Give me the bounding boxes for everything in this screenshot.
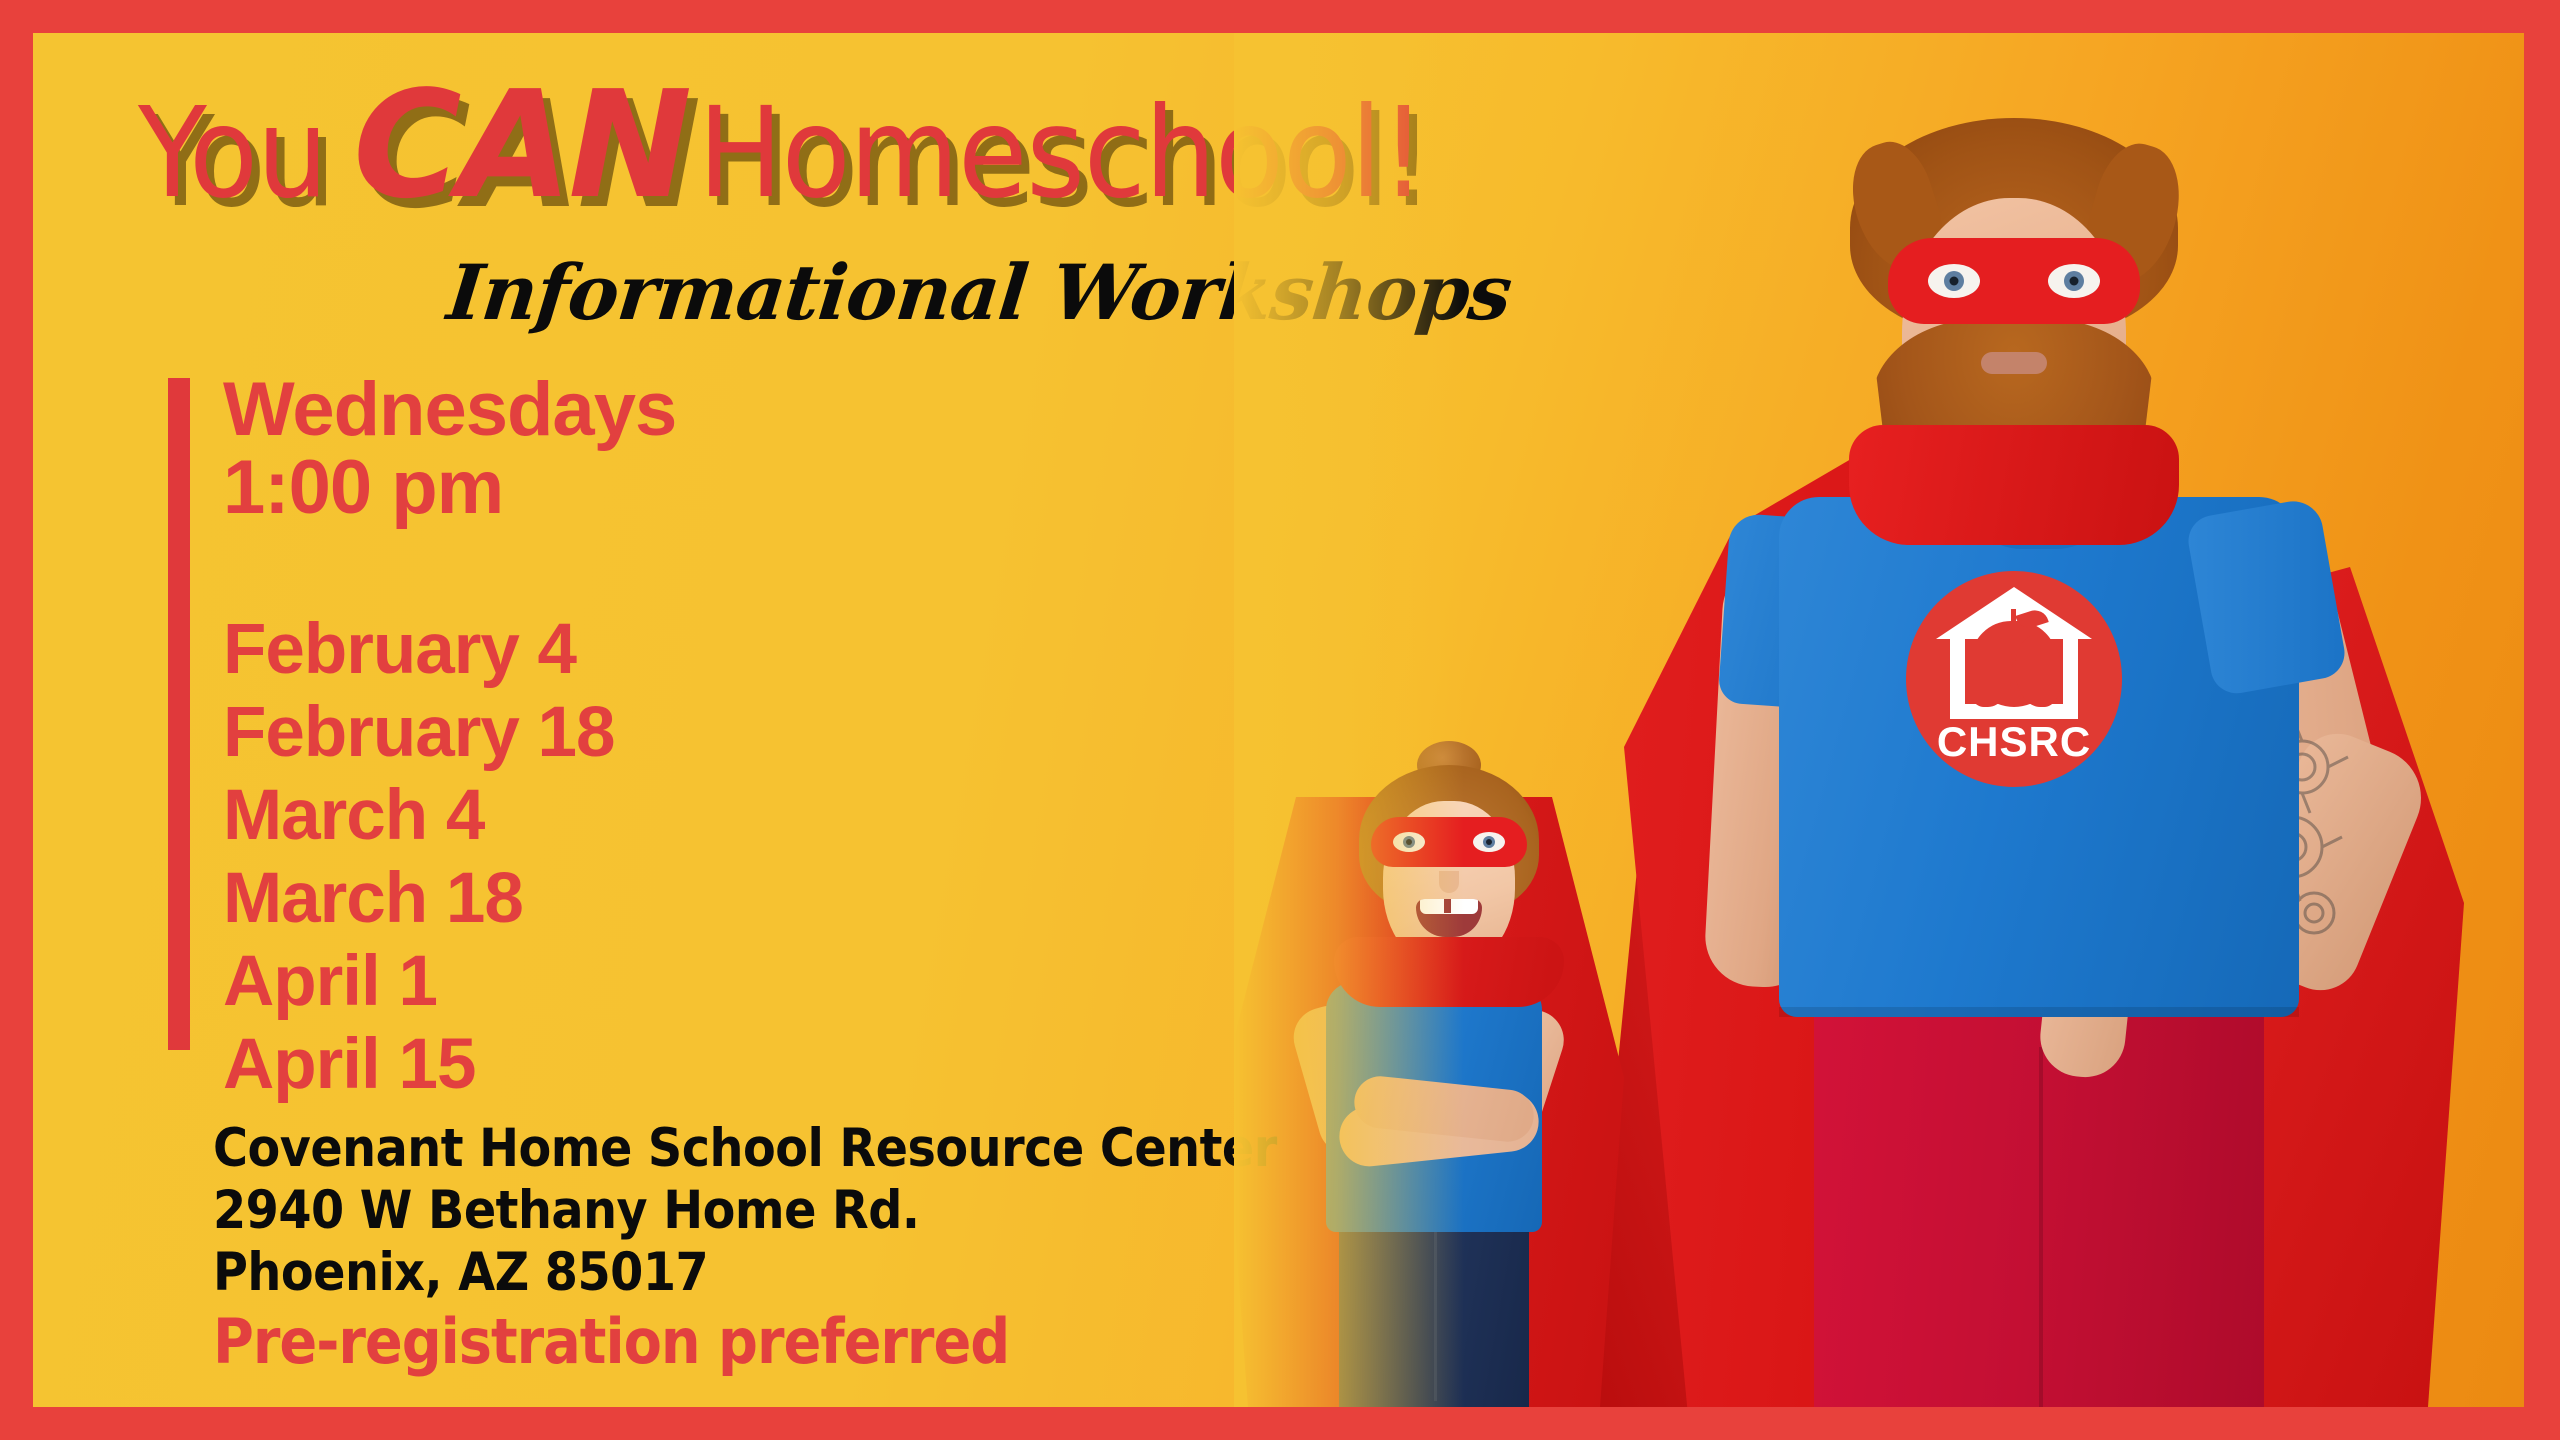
headline-block: You CAN Homeschool!	[138, 71, 1425, 219]
girl-nose	[1439, 871, 1459, 893]
list-item: April 1	[223, 940, 615, 1023]
headline-subtitle: Informational Workshops	[443, 248, 1515, 337]
man-red-pants	[1814, 987, 2264, 1407]
pre-registration-note: Pre-registration preferred	[213, 1305, 1009, 1378]
schedule-day: Wednesdays	[223, 371, 676, 449]
adult-superhero-figure: CHSRC	[1564, 33, 2464, 1407]
superhero-photo: CHSRC	[1234, 33, 2524, 1407]
venue-street: 2940 W Bethany Home Rd.	[213, 1180, 1277, 1242]
list-item: March 4	[223, 774, 615, 857]
man-superhero-mask-icon	[1888, 238, 2140, 324]
girl-superhero-mask-icon	[1371, 817, 1527, 867]
schedule-dates-list: February 4 February 18 March 4 March 18 …	[223, 608, 615, 1106]
schedule-time: 1:00 pm	[223, 449, 676, 527]
flyer-canvas: CHSRC	[33, 33, 2524, 1407]
headline-you: You	[138, 91, 327, 216]
red-accent-bar	[168, 378, 190, 1050]
headline-line: You CAN Homeschool!	[138, 71, 1425, 219]
girl-cape-collar	[1334, 937, 1564, 1007]
chsrc-logo: CHSRC	[1906, 571, 2122, 787]
list-item: March 18	[223, 857, 615, 940]
list-item: February 4	[223, 608, 615, 691]
schedule-when-block: Wednesdays 1:00 pm	[223, 371, 676, 526]
flyer-poster: CHSRC	[0, 0, 2560, 1440]
chsrc-logo-label: CHSRC	[1937, 721, 2091, 763]
venue-city-state-zip: Phoenix, AZ 85017	[213, 1242, 1277, 1304]
headline-can-emphasis: CAN	[353, 71, 688, 219]
venue-address-block: Covenant Home School Resource Center 294…	[213, 1118, 1277, 1304]
headline-homeschool: Homeschool!	[698, 91, 1425, 216]
venue-name: Covenant Home School Resource Center	[213, 1118, 1277, 1180]
child-superhero-figure	[1234, 587, 1664, 1407]
house-apple-icon	[1938, 587, 2090, 719]
list-item: April 15	[223, 1023, 615, 1106]
girl-jeans	[1339, 1217, 1529, 1407]
list-item: February 18	[223, 691, 615, 774]
man-cape-collar	[1849, 425, 2179, 545]
